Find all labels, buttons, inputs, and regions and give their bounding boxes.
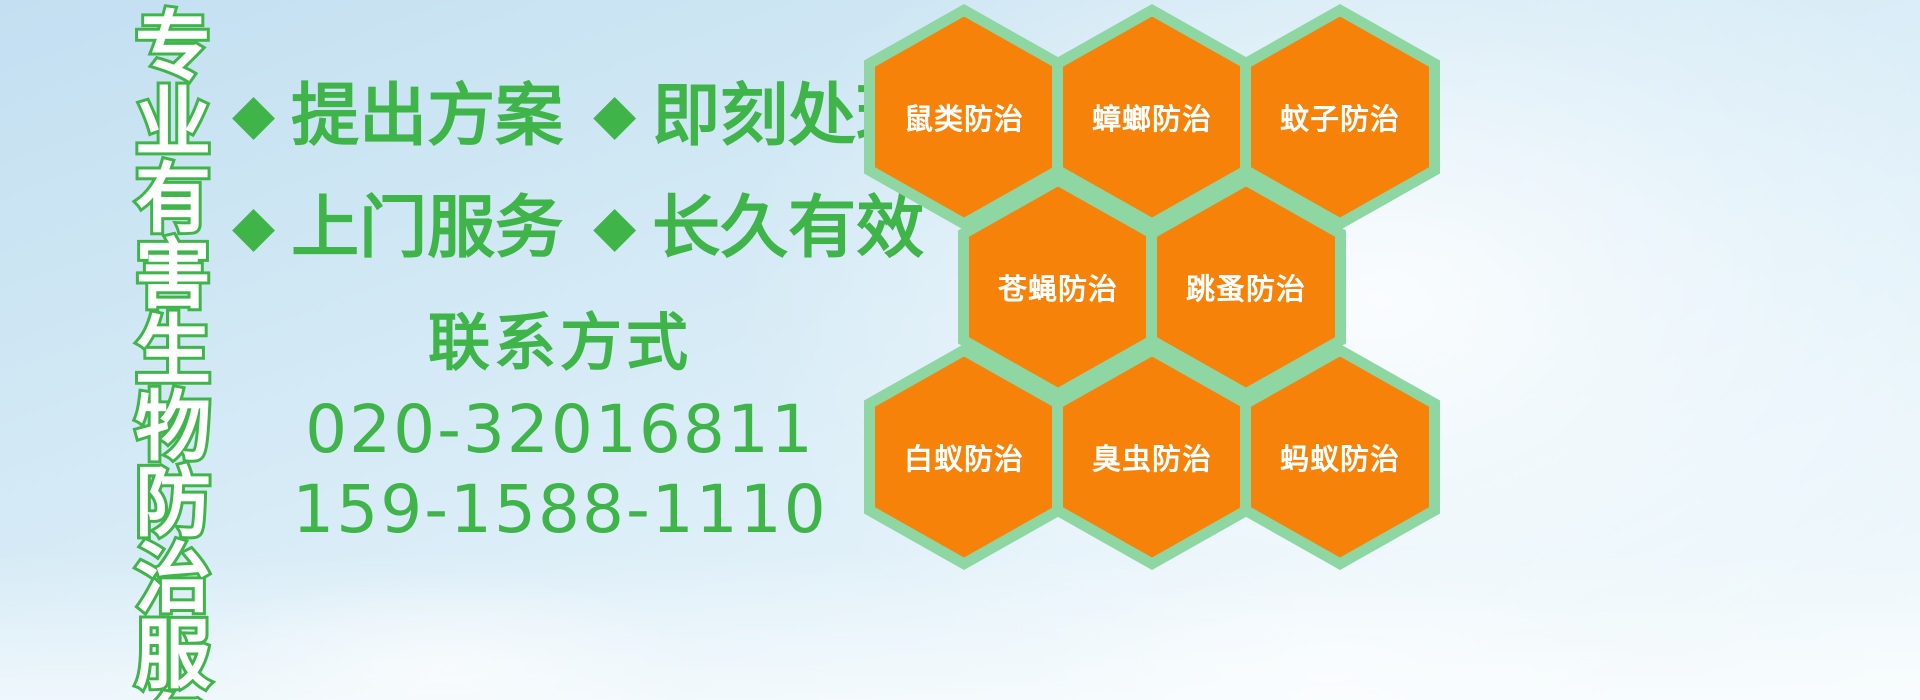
feature-propose-plan: 提出方案 bbox=[291, 83, 563, 151]
hex-label: 白蚁防治 bbox=[904, 436, 1024, 478]
hex-face: 鼠类防治 bbox=[875, 17, 1053, 218]
hex-label: 鼠类防治 bbox=[904, 96, 1024, 138]
hex-label: 臭虫防治 bbox=[1092, 436, 1212, 478]
vertical-headline: 专业有害生物防治服务 bbox=[104, 6, 204, 700]
hex-label: 跳蚤防治 bbox=[1186, 266, 1306, 308]
hex-label: 苍蝇防治 bbox=[998, 266, 1118, 308]
diamond-bullet-icon: ◆ bbox=[593, 87, 636, 143]
diamond-bullet-icon: ◆ bbox=[232, 199, 275, 255]
contact-block: 联系方式 020-32016811 159-1588-1110 bbox=[250, 310, 870, 549]
diamond-bullet-icon: ◆ bbox=[232, 87, 275, 143]
feature-onsite-service: 上门服务 bbox=[291, 195, 563, 263]
phone-number-landline[interactable]: 020-32016811 bbox=[250, 391, 870, 469]
promo-banner: 专业有害生物防治服务 ◆ 提出方案 ◆ 即刻处理 ◆ 上门服务 ◆ 长久有效 联… bbox=[0, 0, 1920, 700]
hex-label: 蟑螂防治 bbox=[1092, 96, 1212, 138]
hex-face: 跳蚤防治 bbox=[1157, 187, 1335, 388]
background-glow-left bbox=[180, 570, 700, 700]
hex-face: 蟑螂防治 bbox=[1063, 17, 1241, 218]
diamond-bullet-icon: ◆ bbox=[593, 199, 636, 255]
hex-label: 蚊子防治 bbox=[1280, 96, 1400, 138]
hex-face: 蚂蚁防治 bbox=[1251, 357, 1429, 558]
service-honeycomb: 鼠类防治 蟑螂防治 蚊子防治 苍蝇防治 跳蚤防治 白蚁防治 bbox=[856, 0, 1476, 700]
contact-title: 联系方式 bbox=[250, 310, 870, 375]
feature-row-2: ◆ 上门服务 ◆ 长久有效 bbox=[232, 195, 924, 263]
feature-row-1: ◆ 提出方案 ◆ 即刻处理 bbox=[232, 83, 924, 151]
hex-face: 苍蝇防治 bbox=[969, 187, 1147, 388]
hex-face: 蚊子防治 bbox=[1251, 17, 1429, 218]
phone-number-mobile[interactable]: 159-1588-1110 bbox=[250, 471, 870, 549]
hex-face: 臭虫防治 bbox=[1063, 357, 1241, 558]
hex-face: 白蚁防治 bbox=[875, 357, 1053, 558]
hex-label: 蚂蚁防治 bbox=[1280, 436, 1400, 478]
